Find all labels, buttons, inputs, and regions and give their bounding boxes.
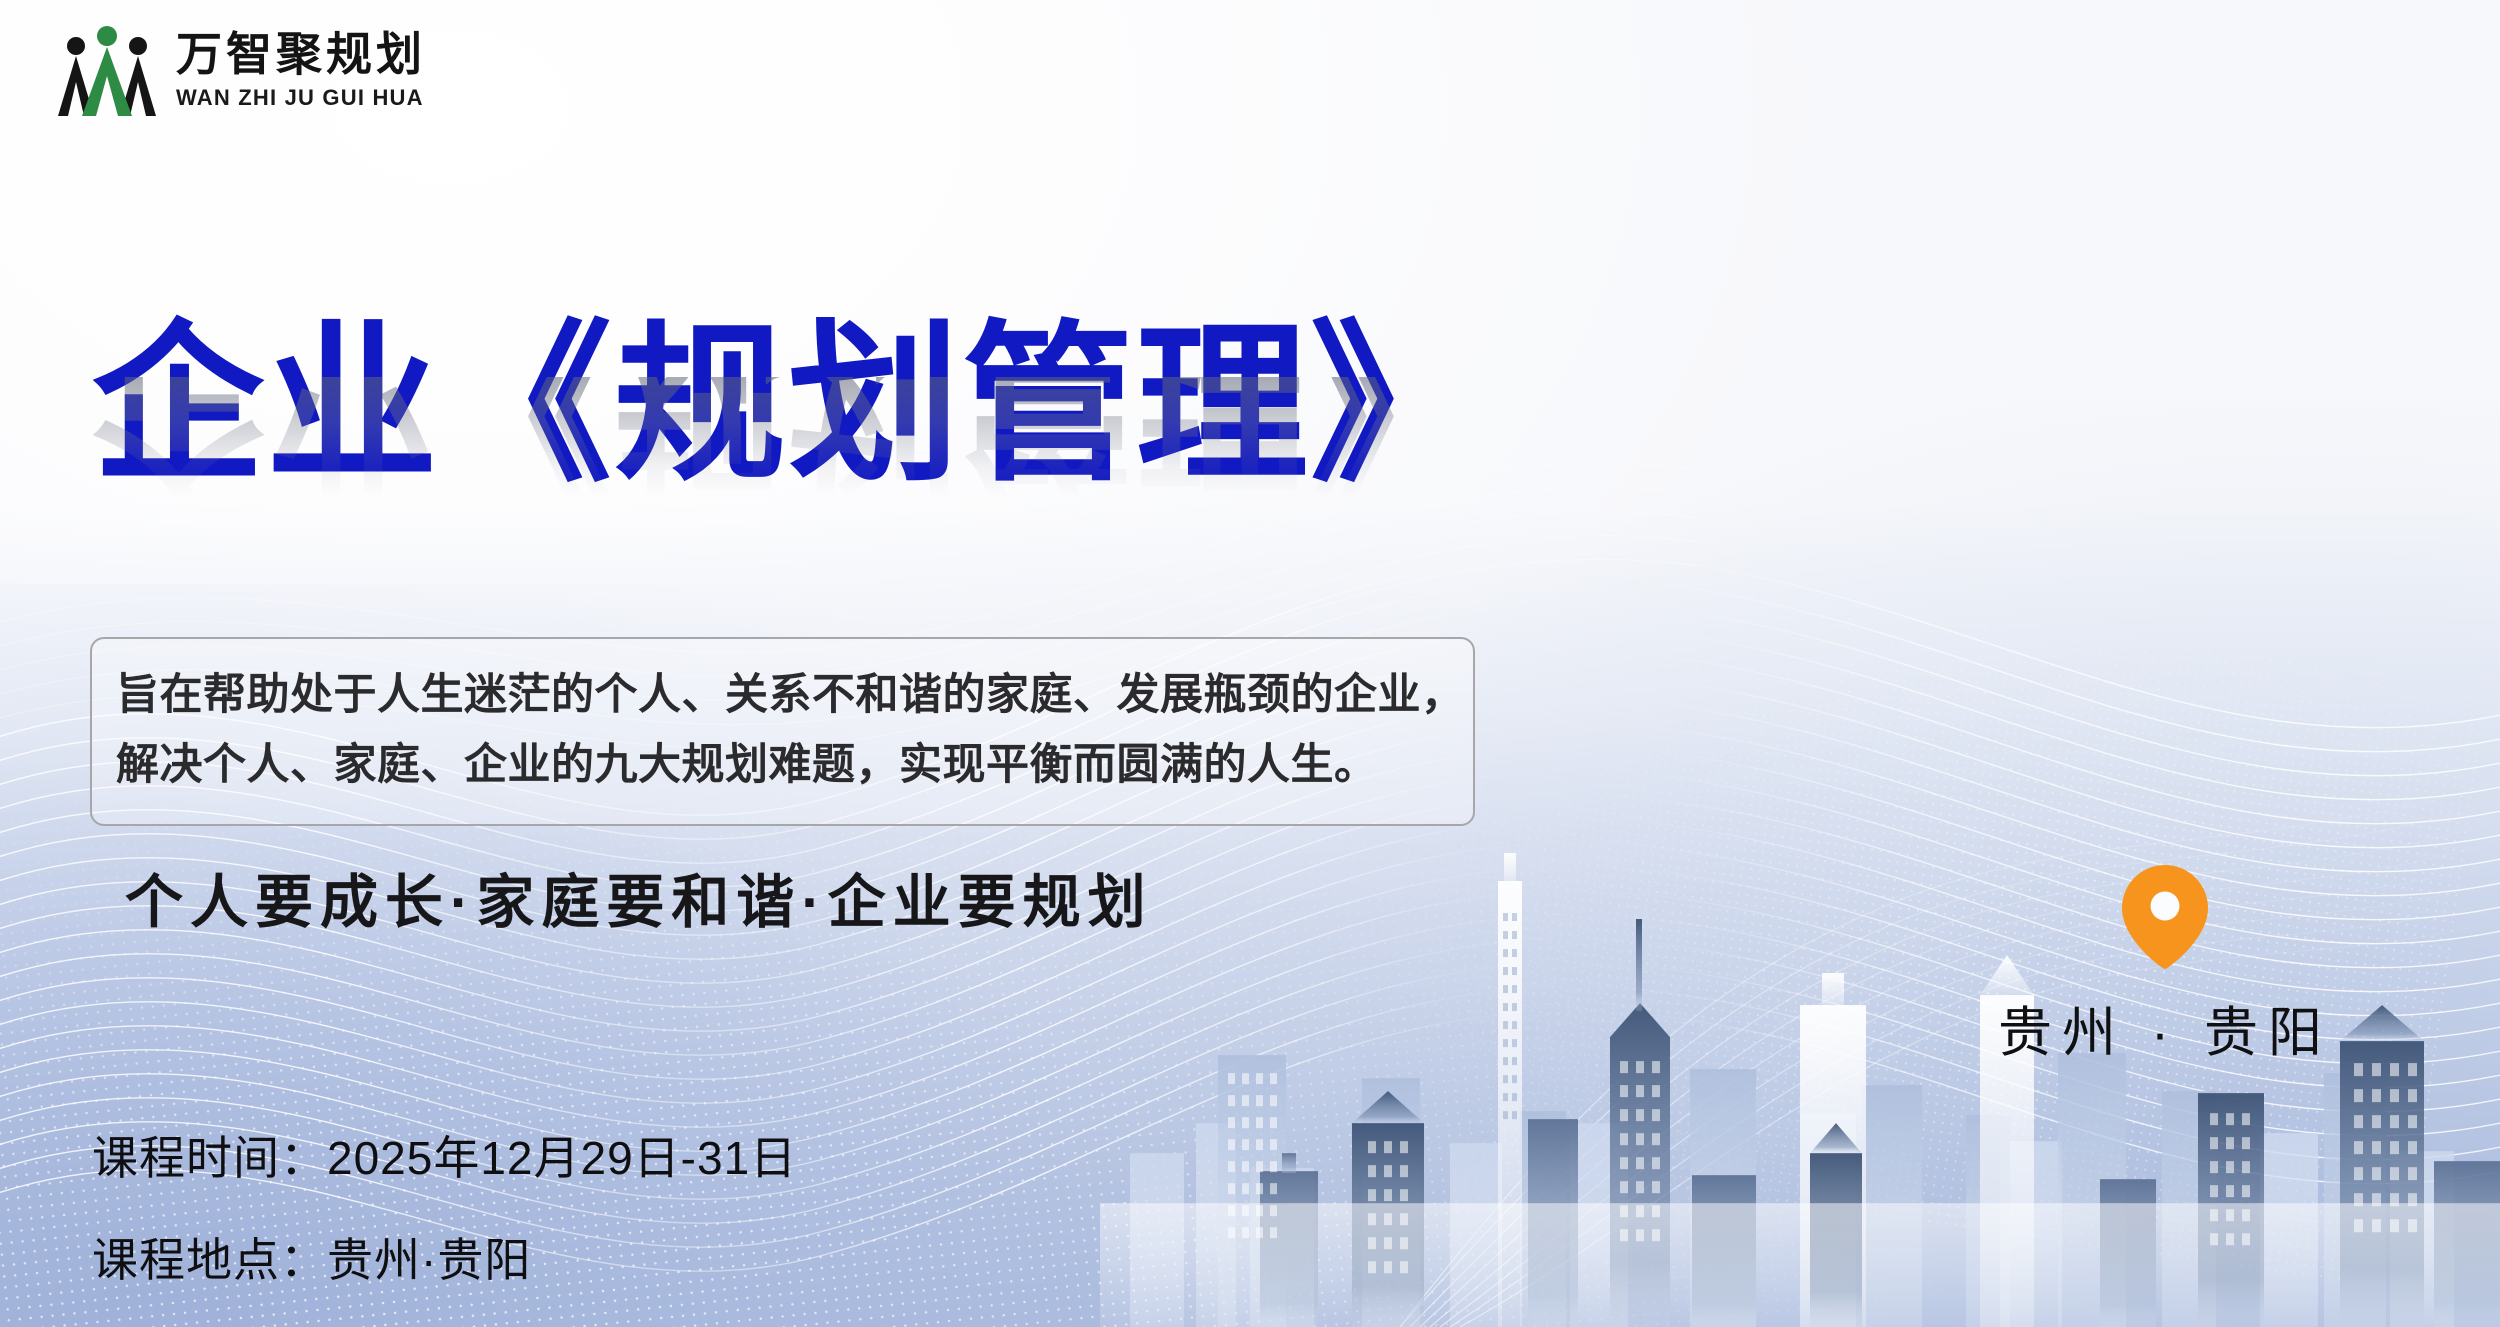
location-block: 贵州 · 贵阳: [1955, 865, 2375, 1067]
course-place: 课程地点：贵州·贵阳: [92, 1224, 797, 1290]
course-info: 课程时间：2025年12月29日-31日 课程地点：贵州·贵阳: [92, 1122, 797, 1290]
description-line-1: 旨在帮助处于人生迷茫的个人、关系不和谐的家庭、发展瓶颈的企业，: [116, 661, 1447, 731]
slogan-text: 个人要成长·家庭要和谐·企业要规划: [125, 855, 1153, 939]
page-title-reflection: 企业《规划管理》: [92, 377, 1652, 497]
course-time: 课程时间：2025年12月29日-31日: [92, 1122, 797, 1188]
map-pin-icon: [2122, 865, 2208, 969]
description-box: 旨在帮助处于人生迷茫的个人、关系不和谐的家庭、发展瓶颈的企业， 解决个人、家庭、…: [90, 637, 1475, 826]
poster-canvas: 万智聚规划 WAN ZHI JU GUI HUA 企业《规划管理》 企业《规划管…: [0, 0, 2500, 1327]
description-line-2: 解决个人、家庭、企业的九大规划难题，实现平衡而圆满的人生。: [116, 731, 1447, 801]
hero-title-group: 企业《规划管理》 企业《规划管理》: [92, 318, 1652, 617]
brand-name-pinyin: WAN ZHI JU GUI HUA: [176, 87, 426, 109]
brand-name-cn: 万智聚规划: [176, 32, 426, 78]
location-label: 贵州 · 贵阳: [1955, 988, 2375, 1067]
three-people-m-logo-icon: [52, 20, 162, 120]
brand-logo-text: 万智聚规划 WAN ZHI JU GUI HUA: [176, 32, 426, 109]
brand-logo[interactable]: 万智聚规划 WAN ZHI JU GUI HUA: [52, 20, 426, 120]
